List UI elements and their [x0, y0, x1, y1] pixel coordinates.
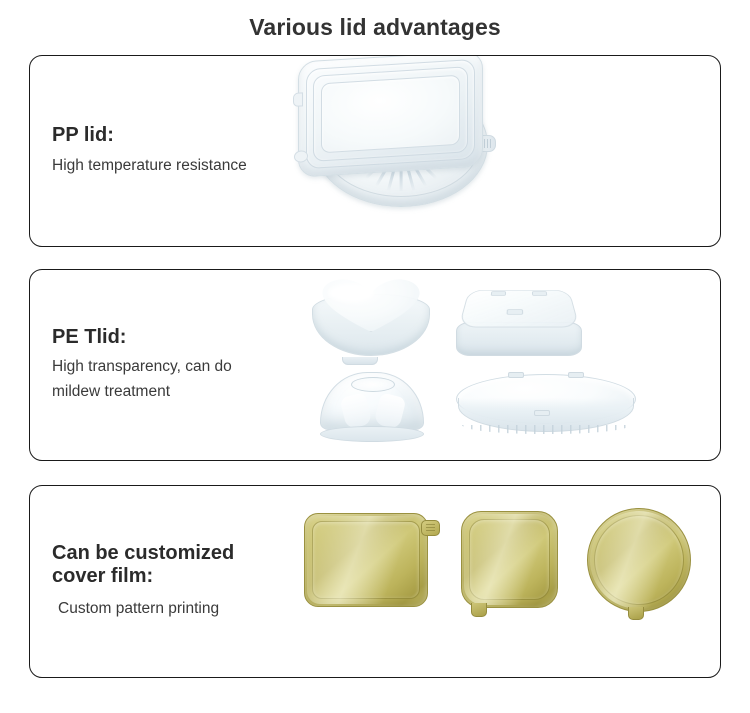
- heart-lid-highlight: [328, 284, 374, 302]
- card-text-pp: PP lid: High temperature resistance: [30, 124, 298, 178]
- gold-rect-pull-tab: [421, 520, 440, 536]
- square-lid-top: [458, 290, 579, 327]
- advantage-cards-list: PP lid: High temperature resistance: [0, 55, 750, 678]
- rectangular-pp-lid-image: [298, 55, 483, 178]
- heart-pe-lid-image: [312, 278, 430, 362]
- advantage-card-cover-film: Can be customized cover film: Custom pat…: [29, 485, 721, 678]
- oval-pe-lid-image: [456, 374, 636, 438]
- dome-lid-facet: [374, 392, 407, 429]
- card-media-cover-film: [298, 486, 720, 677]
- advantage-card-pe-lid: PE Tlid: High transparency, can do milde…: [29, 269, 721, 461]
- card-description-cover-film: Custom pattern printing: [52, 596, 298, 621]
- rectangular-gold-foil-lid-image: [304, 513, 428, 607]
- square-pe-lid-image: [456, 282, 582, 356]
- card-heading-pp: PP lid:: [52, 124, 298, 148]
- dome-lid-rim: [320, 426, 424, 442]
- square-lid-notch: [491, 291, 506, 296]
- oval-lid-ridges: [462, 425, 630, 434]
- card-description-pe: High transparency, can do mildew treatme…: [52, 354, 298, 404]
- rect-lid-side-nub: [293, 92, 303, 107]
- dome-lid-opening: [351, 377, 395, 392]
- gold-round-pull-tab: [628, 607, 644, 620]
- oval-lid-notch: [568, 372, 584, 378]
- card-media-pe: [298, 270, 720, 460]
- square-gold-foil-lid-image: [461, 511, 558, 608]
- card-media-pp: [298, 56, 720, 246]
- page-title: Various lid advantages: [0, 0, 750, 47]
- dome-lid-cap: [320, 372, 424, 430]
- card-heading-pe: PE Tlid:: [52, 326, 298, 350]
- dome-lid-facet: [340, 392, 373, 429]
- gold-square-pull-tab: [471, 603, 487, 617]
- gold-round-inner-border: [594, 515, 684, 605]
- dome-pe-lid-image: [320, 372, 424, 444]
- card-heading-cover-film: Can be customized cover film:: [52, 542, 298, 589]
- card-text-pe: PE Tlid: High transparency, can do milde…: [30, 326, 298, 404]
- gold-square-inner-border: [469, 519, 550, 600]
- card-text-cover-film: Can be customized cover film: Custom pat…: [30, 542, 298, 621]
- card-description-pp: High temperature resistance: [52, 153, 298, 178]
- square-lid-notch: [532, 291, 547, 296]
- gold-rect-inner-border: [312, 521, 420, 599]
- rect-lid-ring-inner: [321, 75, 460, 154]
- oval-lid-notch: [534, 410, 550, 416]
- oval-lid-notch: [508, 372, 524, 378]
- square-lid-notch: [507, 309, 524, 314]
- heart-lid-foot: [342, 357, 378, 365]
- advantage-card-pp-lid: PP lid: High temperature resistance: [29, 55, 721, 247]
- round-gold-foil-lid-image: [587, 508, 691, 612]
